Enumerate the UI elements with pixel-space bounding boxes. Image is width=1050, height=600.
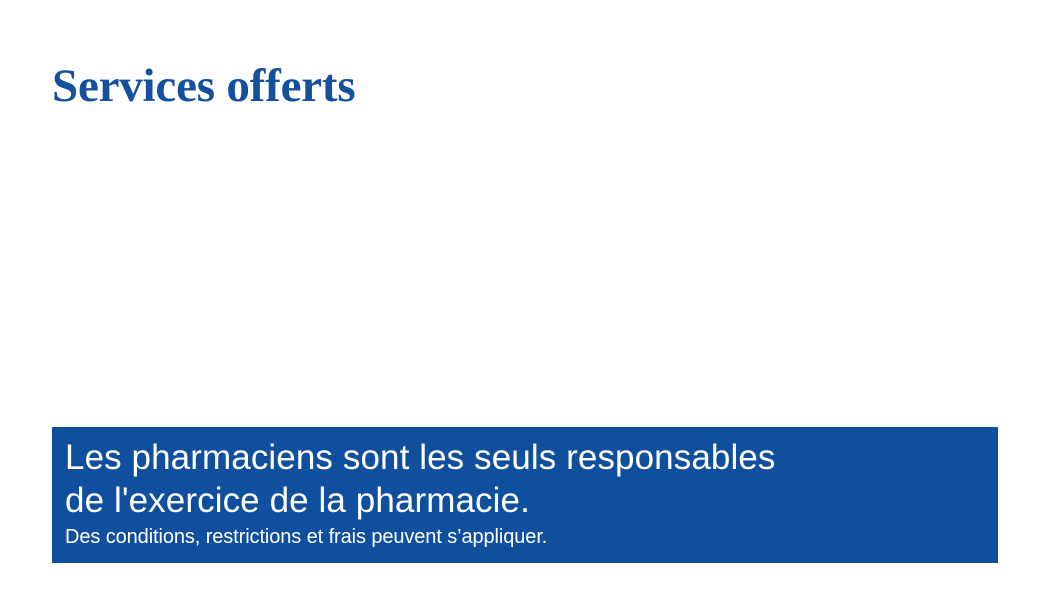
page-title: Services offerts — [52, 62, 355, 111]
callout-line-2: de l'exercice de la pharmacie. — [65, 479, 982, 522]
slide-canvas: Services offerts Les pharmaciens sont le… — [0, 0, 1050, 600]
callout-subtitle: Des conditions, restrictions et frais pe… — [65, 525, 982, 550]
slide-content-placeholder — [52, 140, 998, 420]
callout-banner: Les pharmaciens sont les seuls responsab… — [52, 427, 998, 563]
callout-main-text: Les pharmaciens sont les seuls responsab… — [65, 436, 982, 522]
callout-line-1: Les pharmaciens sont les seuls responsab… — [65, 436, 982, 479]
